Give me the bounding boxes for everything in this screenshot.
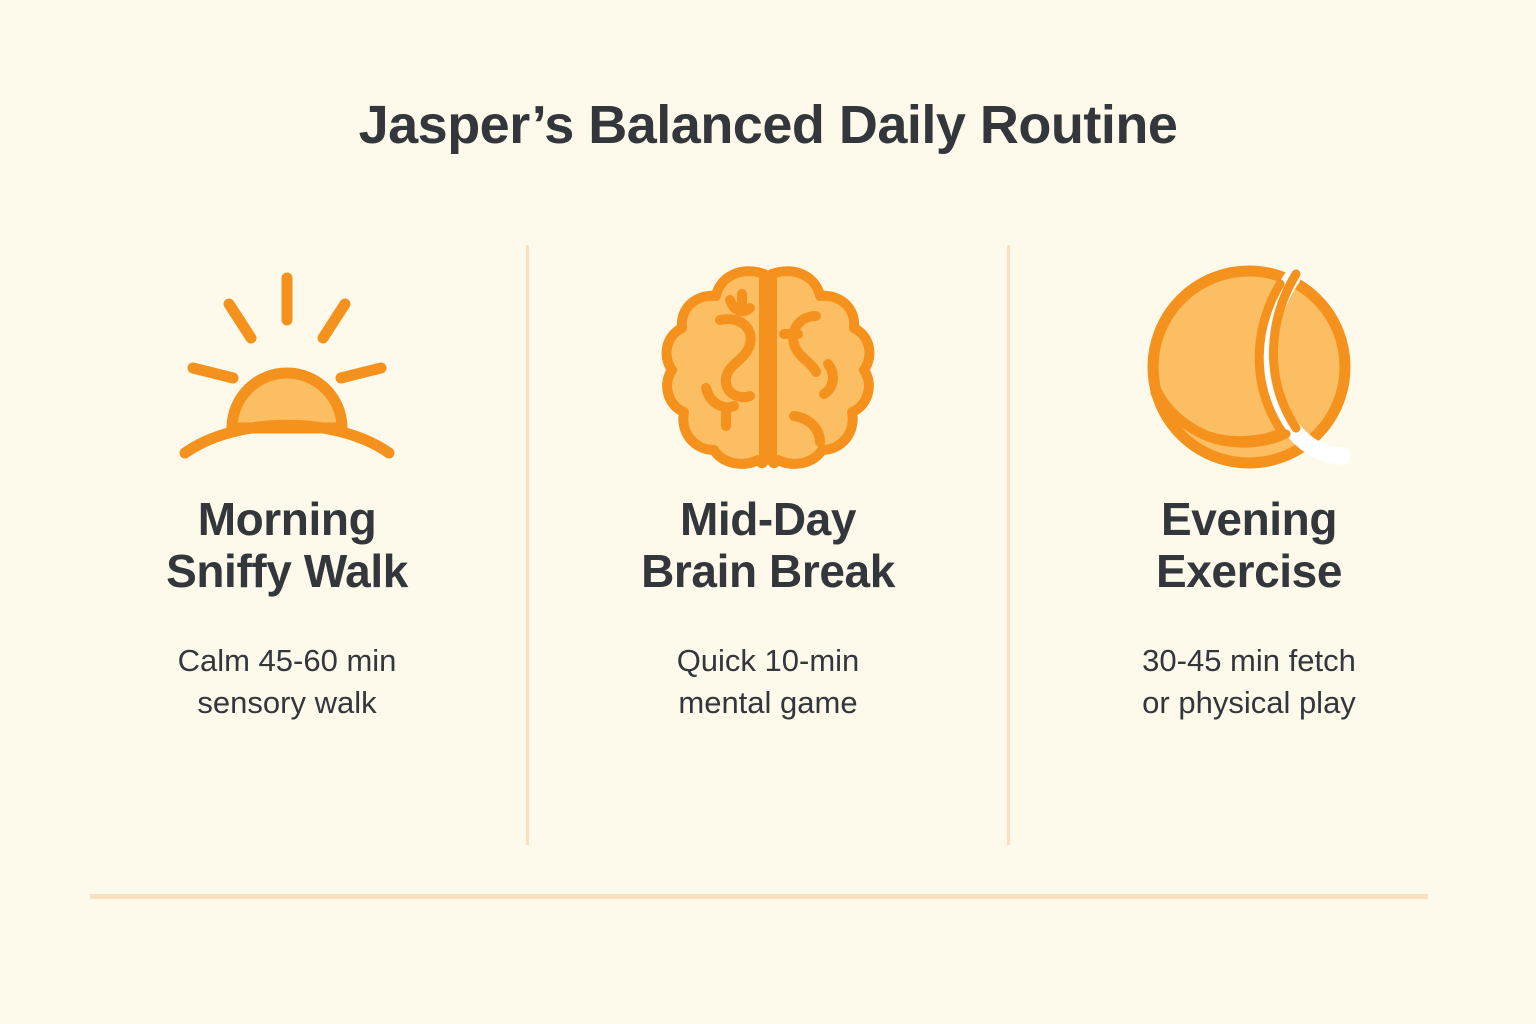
card-title-line2: Sniffy Walk bbox=[166, 546, 408, 598]
card-title-midday: Mid-Day Brain Break bbox=[641, 494, 895, 598]
card-title-line1: Morning bbox=[166, 494, 408, 546]
card-title-morning: Morning Sniffy Walk bbox=[166, 494, 408, 598]
footer-divider bbox=[90, 894, 1428, 899]
card-desc-line1: Calm 45-60 min bbox=[178, 640, 397, 682]
card-desc-midday: Quick 10-min mental game bbox=[677, 640, 860, 724]
tennis-ball-icon bbox=[1142, 245, 1357, 490]
card-desc-line2: sensory walk bbox=[178, 682, 397, 724]
card-desc-line2: mental game bbox=[677, 682, 860, 724]
card-title-line2: Exercise bbox=[1156, 546, 1342, 598]
card-title-line2: Brain Break bbox=[641, 546, 895, 598]
card-desc-line1: 30-45 min fetch bbox=[1142, 640, 1356, 682]
brain-icon bbox=[658, 245, 878, 490]
routine-card-morning: Morning Sniffy Walk Calm 45-60 min senso… bbox=[48, 245, 526, 845]
routine-card-midday: Mid-Day Brain Break Quick 10-min mental … bbox=[529, 245, 1007, 845]
card-desc-evening: 30-45 min fetch or physical play bbox=[1142, 640, 1356, 724]
card-title-line1: Evening bbox=[1156, 494, 1342, 546]
card-title-evening: Evening Exercise bbox=[1156, 494, 1342, 598]
card-desc-line1: Quick 10-min bbox=[677, 640, 860, 682]
card-desc-line2: or physical play bbox=[1142, 682, 1356, 724]
card-desc-morning: Calm 45-60 min sensory walk bbox=[178, 640, 397, 724]
card-title-line1: Mid-Day bbox=[641, 494, 895, 546]
routine-columns: Morning Sniffy Walk Calm 45-60 min senso… bbox=[48, 245, 1488, 845]
page-title: Jasper’s Balanced Daily Routine bbox=[0, 96, 1536, 155]
infographic-canvas: Jasper’s Balanced Daily Routine bbox=[0, 0, 1536, 1024]
sunrise-icon bbox=[177, 245, 397, 490]
routine-card-evening: Evening Exercise 30-45 min fetch or phys… bbox=[1010, 245, 1488, 845]
